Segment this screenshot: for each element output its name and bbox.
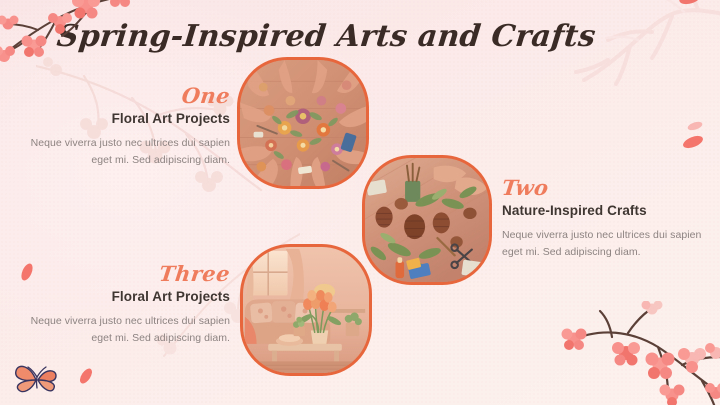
- slide-canvas: Spring-Inspired Arts and Crafts: [0, 0, 720, 405]
- block-three-body: Neque viverra justo nec ultrices dui sap…: [12, 313, 230, 347]
- block-three-number: Three: [11, 262, 232, 285]
- faded-branch-top-right-icon: [574, 0, 720, 118]
- photo-spring-living-room[interactable]: [240, 244, 372, 376]
- block-one-heading: Floral Art Projects: [12, 109, 230, 129]
- cherry-blossom-branch-bottom-right-icon: [552, 301, 720, 405]
- photo-floral-art-illustration: [240, 60, 366, 186]
- block-two-heading: Nature-Inspired Crafts: [502, 201, 710, 221]
- block-two-number: Two: [501, 176, 712, 199]
- block-two-body: Neque viverra justo nec ultrices dui sap…: [502, 227, 710, 261]
- feature-block-one: One Floral Art Projects Neque viverra ju…: [12, 84, 230, 169]
- blossom-cluster: [562, 301, 720, 405]
- photo-nature-crafts-illustration: [365, 158, 489, 282]
- block-one-number: One: [11, 84, 232, 107]
- petal-icon-bottom-left: [76, 366, 96, 386]
- petal-icon-right: [681, 132, 705, 152]
- feature-block-two: Two Nature-Inspired Crafts Neque viverra…: [502, 176, 710, 261]
- photo-living-room-illustration: [243, 247, 369, 373]
- photo-floral-art-projects[interactable]: [237, 57, 369, 189]
- block-one-body: Neque viverra justo nec ultrices dui sap…: [12, 135, 230, 169]
- slide-title: Spring-Inspired Arts and Crafts: [55, 19, 597, 54]
- block-three-heading: Floral Art Projects: [12, 287, 230, 307]
- petal-icon-upper-right: [686, 118, 704, 134]
- butterfly-icon: [12, 359, 62, 399]
- photo-nature-inspired-crafts[interactable]: [362, 155, 492, 285]
- feature-block-three: Three Floral Art Projects Neque viverra …: [12, 262, 230, 347]
